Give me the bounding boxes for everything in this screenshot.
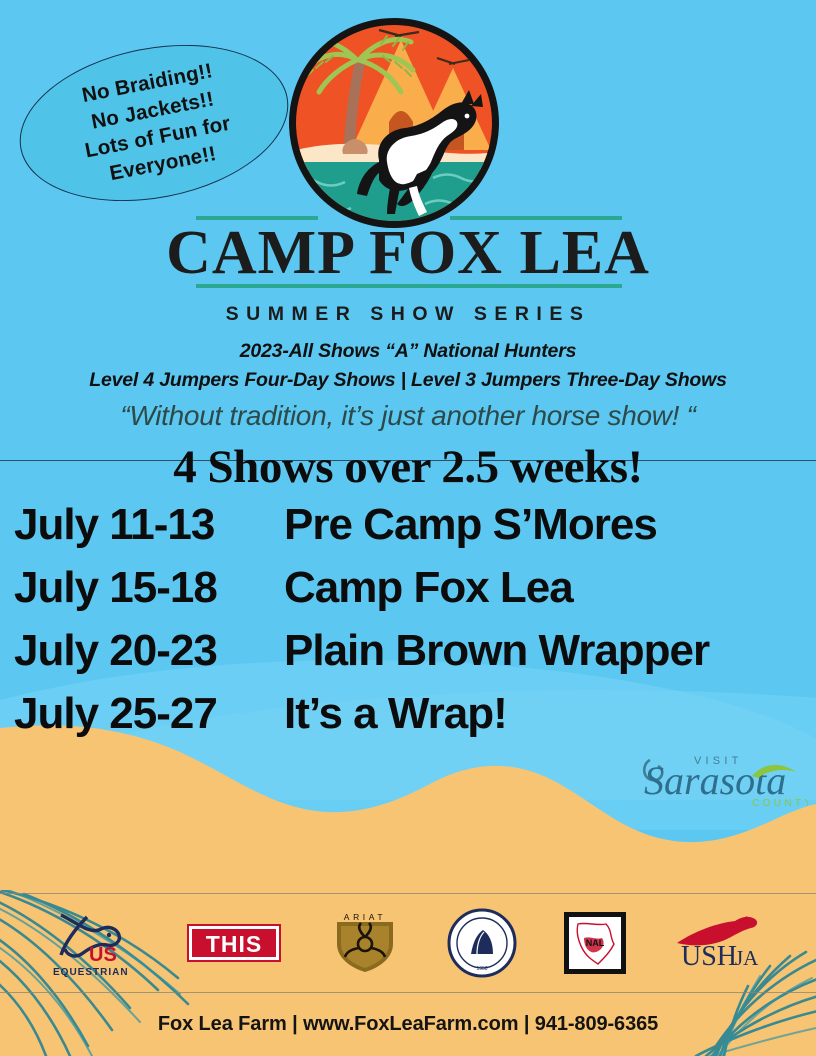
schedule-date: July 20-23 [14, 626, 284, 676]
schedule-row: July 20-23 Plain Brown Wrapper [14, 626, 804, 689]
visit-sarasota-county-logo-icon: VISIT Sarasota COUNTY [640, 748, 808, 810]
sponsor-ariat: ARIAT [329, 910, 401, 976]
schedule-list: July 11-13 Pre Camp S’Mores July 15-18 C… [14, 500, 804, 752]
sponsor-divider-bottom [0, 992, 816, 993]
svg-text:Sarasota: Sarasota [644, 758, 786, 803]
schedule-date: July 15-18 [14, 563, 284, 613]
svg-text:COUNTY: COUNTY [752, 798, 808, 809]
sponsor-ushja: USH JA [673, 913, 769, 973]
schedule-show-name: It’s a Wrap! [284, 689, 507, 739]
page-title: CAMP FOX LEA [0, 222, 816, 284]
schedule-row: July 25-27 It’s a Wrap! [14, 689, 804, 752]
sponsor-this: THIS [186, 919, 282, 967]
sponsor-washington-international-horse-show: 1958 [447, 908, 517, 978]
sponsor-nal: NAL [564, 912, 626, 974]
svg-text:1958: 1958 [477, 966, 488, 972]
schedule-row: July 11-13 Pre Camp S’Mores [14, 500, 804, 563]
svg-text:US: US [89, 944, 117, 966]
poster: No Braiding!! No Jackets!! Lots of Fun f… [0, 0, 816, 1056]
svg-text:JA: JA [735, 946, 759, 970]
sponsor-logo-strip: US EQUESTRIAN THIS ARIAT [0, 894, 816, 992]
schedule-show-name: Camp Fox Lea [284, 563, 573, 613]
svg-text:USH: USH [681, 941, 737, 972]
schedule-show-name: Pre Camp S’Mores [284, 500, 657, 550]
show-rating-line: 2023-All Shows “A” National Hunters [0, 340, 816, 363]
schedule-date: July 11-13 [14, 500, 284, 550]
svg-text:ARIAT: ARIAT [343, 912, 385, 922]
footer-contact: Fox Lea Farm | www.FoxLeaFarm.com | 941-… [0, 1000, 816, 1048]
schedule-show-name: Plain Brown Wrapper [284, 626, 709, 676]
tagline-quote: “Without tradition, it’s just another ho… [0, 400, 816, 432]
schedule-headline: 4 Shows over 2.5 weeks! [0, 440, 816, 494]
camp-fox-lea-logo-icon [283, 12, 505, 234]
jumper-levels-line: Level 4 Jumpers Four-Day Shows | Level 3… [0, 369, 816, 392]
schedule-date: July 25-27 [14, 689, 284, 739]
sponsor-us-equestrian: US EQUESTRIAN [47, 907, 139, 979]
title-rule-bottom [196, 284, 622, 288]
svg-text:NAL: NAL [586, 938, 605, 948]
svg-text:THIS: THIS [205, 931, 261, 957]
schedule-row: July 15-18 Camp Fox Lea [14, 563, 804, 626]
page-subtitle: SUMMER SHOW SERIES [0, 303, 816, 326]
svg-text:EQUESTRIAN: EQUESTRIAN [53, 967, 129, 978]
